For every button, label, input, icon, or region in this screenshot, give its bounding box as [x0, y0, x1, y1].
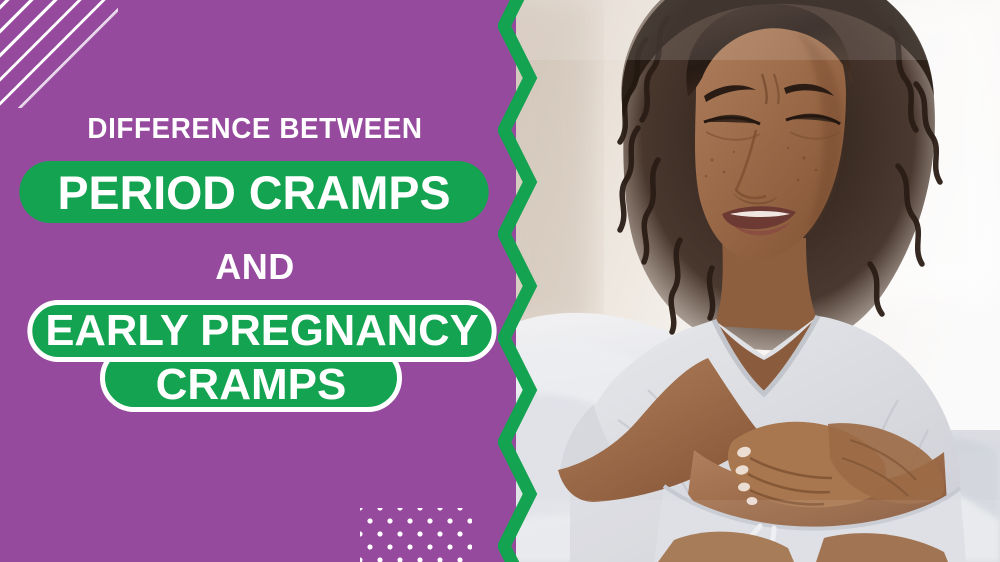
- photo-woman-abdominal-pain: [498, 0, 1000, 562]
- term-pill-early-pregnancy: EARLY PREGNANCY: [27, 300, 496, 362]
- headline-conjunction: AND: [0, 246, 510, 288]
- banner-graphic: DIFFERENCE BETWEEN PERIOD CRAMPS AND EAR…: [0, 0, 1000, 562]
- headline-kicker: DIFFERENCE BETWEEN: [10, 112, 500, 146]
- headline-stack: DIFFERENCE BETWEEN PERIOD CRAMPS AND EAR…: [0, 0, 510, 562]
- term-pill-group-early-pregnancy-cramps: EARLY PREGNANCY CRAMPS: [14, 300, 496, 416]
- term-pill-period-cramps: PERIOD CRAMPS: [19, 161, 488, 223]
